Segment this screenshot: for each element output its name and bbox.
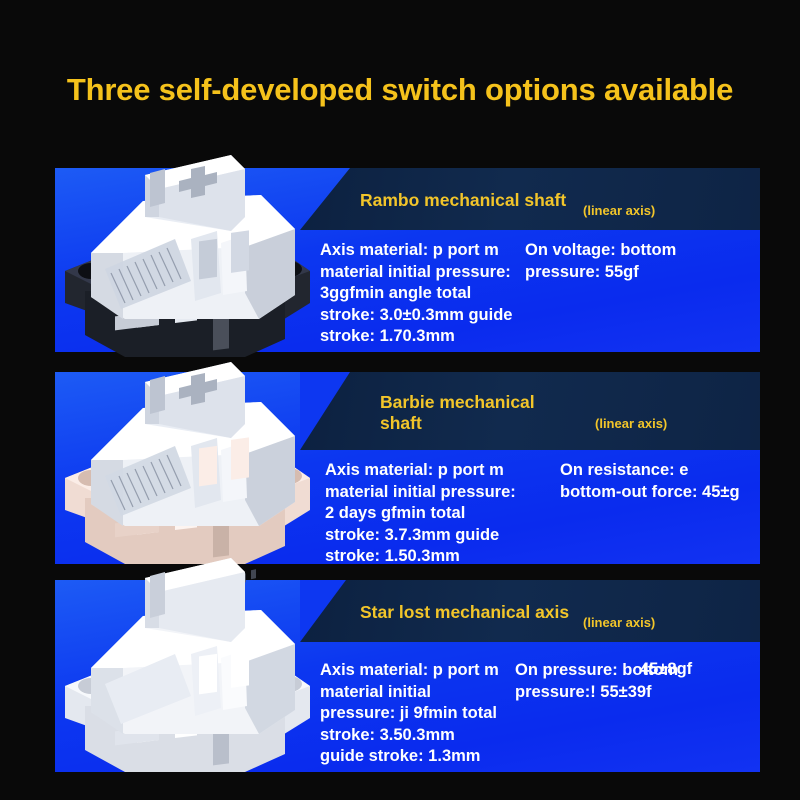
- page-title: Three self-developed switch options avai…: [0, 72, 800, 108]
- card-subtitle: (linear axis): [595, 416, 667, 431]
- card-title: Star lost mechanical axis: [360, 602, 569, 623]
- switch-image-wrap: [55, 372, 355, 564]
- spec-left-column: Axis material: p port m material initial…: [325, 460, 516, 568]
- mechanical-switch-all-white-icon: [45, 558, 345, 788]
- card-subtitle: (linear axis): [583, 203, 655, 218]
- switch-card-rambo[interactable]: Rambo mechanical shaft (linear axis) Axi…: [55, 168, 760, 352]
- switch-image-wrap: [55, 580, 355, 772]
- page-root: Three self-developed switch options avai…: [0, 0, 800, 800]
- switch-image-wrap: [55, 168, 355, 352]
- mechanical-switch-white-black-icon: [45, 143, 345, 373]
- card-title: Rambo mechanical shaft: [360, 190, 566, 211]
- switch-card-star-lost[interactable]: Star lost mechanical axis (linear axis) …: [55, 580, 760, 772]
- spec-left-column: Axis material: p port m material initial…: [320, 660, 499, 768]
- spec-right-column: On resistance: e bottom-out force: 45±g: [560, 460, 740, 503]
- switch-card-barbie[interactable]: Barbie mechanical shaft (linear axis) Ax…: [55, 372, 760, 564]
- spec-right-column: On voltage: bottom pressure: 55gf: [525, 240, 676, 283]
- spec-left-column: Axis material: p port m material initial…: [320, 240, 512, 348]
- spec-overlay-text: 45±8gf: [640, 660, 692, 679]
- mechanical-switch-white-pink-icon: [45, 350, 345, 580]
- card-title: Barbie mechanical shaft: [380, 392, 535, 434]
- card-subtitle: (linear axis): [583, 615, 655, 630]
